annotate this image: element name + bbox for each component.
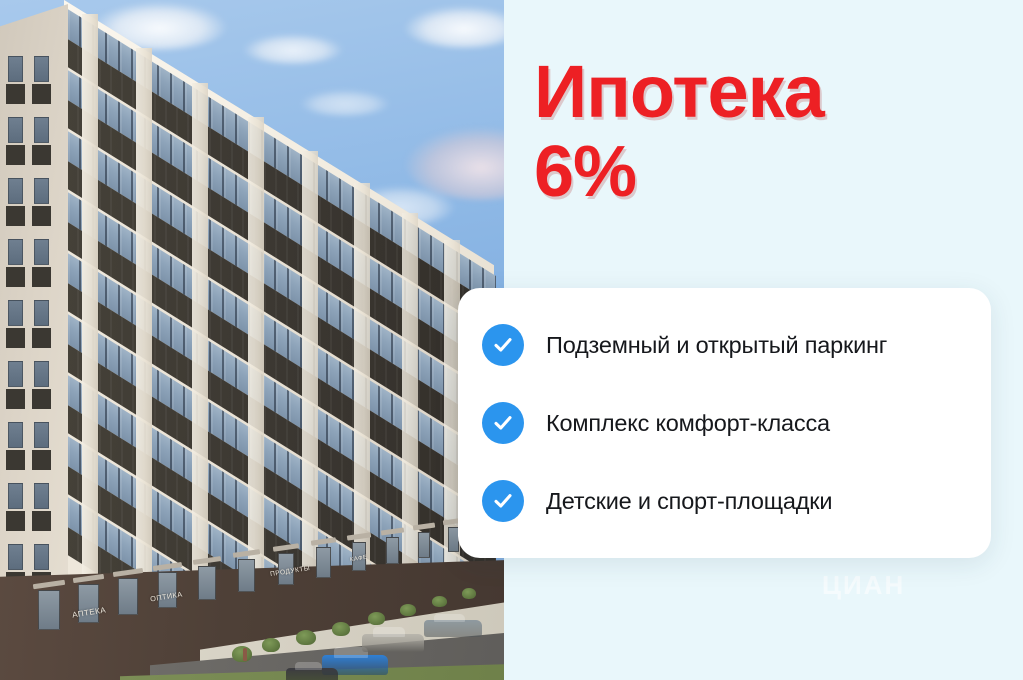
tree — [332, 622, 350, 636]
facade-pier — [248, 117, 264, 624]
balcony — [32, 206, 51, 226]
balcony — [6, 511, 25, 531]
feature-item: Комплекс комфорт-класса — [482, 394, 965, 452]
shopfront-window — [386, 537, 399, 564]
facade-pier — [402, 213, 418, 624]
feature-label: Комплекс комфорт-класса — [546, 409, 830, 437]
tree — [462, 588, 476, 599]
window — [8, 300, 23, 326]
feature-item: Детские и спорт-площадки — [482, 472, 965, 530]
tree — [400, 604, 416, 616]
check-circle-icon — [482, 402, 524, 444]
window — [8, 117, 23, 143]
window — [8, 422, 23, 448]
balcony — [6, 145, 25, 165]
pedestrian — [243, 648, 247, 661]
tree — [296, 630, 316, 645]
shopfront-window — [238, 559, 255, 592]
facade-pier — [136, 48, 152, 624]
feature-label: Подземный и открытый паркинг — [546, 331, 887, 359]
window — [34, 239, 49, 265]
headline-line-1: Ипотека — [534, 56, 994, 128]
balcony — [6, 267, 25, 287]
window — [8, 56, 23, 82]
shopfront-window — [316, 547, 331, 577]
balcony — [6, 389, 25, 409]
shopfront-window — [118, 578, 138, 615]
window — [8, 483, 23, 509]
balcony — [32, 389, 51, 409]
facade-pier — [192, 83, 208, 624]
window — [34, 300, 49, 326]
feature-list-card: Подземный и открытый паркинг Комплекс ко… — [458, 288, 991, 558]
window — [34, 56, 49, 82]
shopfront-window — [198, 566, 216, 600]
car — [362, 634, 424, 652]
headline-line-2: 6% — [534, 138, 994, 208]
window — [8, 544, 23, 570]
window — [34, 544, 49, 570]
tree — [432, 596, 447, 607]
feature-item: Подземный и открытый паркинг — [482, 316, 965, 374]
shopfront-window — [38, 590, 60, 630]
window — [34, 361, 49, 387]
balcony — [32, 450, 51, 470]
facade-pier — [82, 14, 98, 624]
window — [34, 422, 49, 448]
real-estate-ad-banner: АПТЕКАОПТИКАПРОДУКТЫКАФЕ Ипотека 6% ЦИАН… — [0, 0, 1023, 680]
window — [34, 483, 49, 509]
balcony — [6, 450, 25, 470]
building-render-photo: АПТЕКАОПТИКАПРОДУКТЫКАФЕ — [0, 0, 504, 680]
balcony — [6, 84, 25, 104]
balcony — [6, 206, 25, 226]
feature-label: Детские и спорт-площадки — [546, 487, 832, 515]
balcony — [32, 267, 51, 287]
headline-block: Ипотека 6% — [534, 56, 994, 208]
balcony — [6, 328, 25, 348]
window — [8, 239, 23, 265]
balcony — [32, 328, 51, 348]
car — [286, 668, 338, 680]
balcony — [32, 145, 51, 165]
balcony — [32, 84, 51, 104]
window — [34, 117, 49, 143]
window — [34, 178, 49, 204]
watermark: ЦИАН — [822, 570, 905, 601]
window — [8, 361, 23, 387]
tree — [368, 612, 385, 625]
car — [424, 620, 482, 637]
tree — [232, 646, 252, 662]
balcony — [32, 511, 51, 531]
check-circle-icon — [482, 324, 524, 366]
window — [8, 178, 23, 204]
check-circle-icon — [482, 480, 524, 522]
tree — [262, 638, 280, 652]
shopfront-window — [418, 532, 430, 558]
